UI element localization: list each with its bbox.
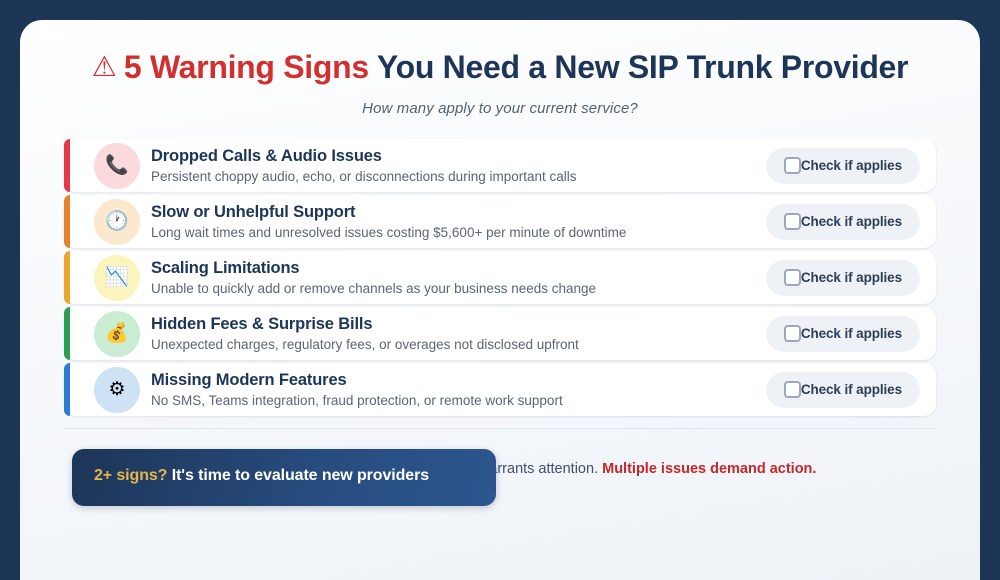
list-item[interactable]: ⚙ Missing Modern Features No SMS, Teams … [64, 363, 936, 416]
sign-title: Slow or Unhelpful Support [151, 203, 766, 222]
sign-text: Missing Modern Features No SMS, Teams in… [151, 370, 766, 411]
page-title: ⚠5 Warning Signs You Need a New SIP Trun… [76, 48, 924, 86]
page-title-accent: 5 Warning Signs [124, 49, 369, 85]
checkbox[interactable] [784, 381, 801, 398]
check-if-applies-toggle[interactable]: Check if applies [766, 372, 920, 408]
checkbox[interactable] [784, 213, 801, 230]
sign-description: Unable to quickly add or remove channels… [151, 280, 766, 298]
checkbox-label: Check if applies [801, 214, 902, 229]
page-subtitle: How many apply to your current service? [64, 100, 936, 117]
check-if-applies-toggle[interactable]: Check if applies [766, 260, 920, 296]
checkbox[interactable] [784, 157, 801, 174]
sign-text: Hidden Fees & Surprise Bills Unexpected … [151, 314, 766, 355]
money-bag-icon: 💰 [94, 311, 140, 357]
checkbox[interactable] [784, 325, 801, 342]
sign-description: Long wait times and unresolved issues co… [151, 224, 766, 242]
list-item[interactable]: 📞 Dropped Calls & Audio Issues Persisten… [64, 139, 936, 192]
gear-icon: ⚙ [94, 367, 140, 413]
checkbox-label: Check if applies [801, 382, 902, 397]
sign-title: Dropped Calls & Audio Issues [151, 147, 766, 166]
sign-text: Slow or Unhelpful Support Long wait time… [151, 202, 766, 243]
warning-triangle-icon: ⚠ [92, 51, 117, 82]
sign-title: Scaling Limitations [151, 259, 766, 278]
page-title-rest: You Need a New SIP Trunk Provider [377, 49, 908, 85]
sign-description: No SMS, Teams integration, fraud protect… [151, 392, 766, 410]
chart-decreasing-icon: 📉 [94, 255, 140, 301]
checkbox-label: Check if applies [801, 158, 902, 173]
list-item[interactable]: 💰 Hidden Fees & Surprise Bills Unexpecte… [64, 307, 936, 360]
checkbox[interactable] [784, 269, 801, 286]
check-if-applies-toggle[interactable]: Check if applies [766, 316, 920, 352]
cta-badge[interactable]: 2+ signs? It's time to evaluate new prov… [72, 449, 496, 505]
cta-badge-text: It's time to evaluate new providers [172, 467, 429, 484]
accent-bar [64, 139, 70, 192]
list-item[interactable]: 🕐 Slow or Unhelpful Support Long wait ti… [64, 195, 936, 248]
check-if-applies-toggle[interactable]: Check if applies [766, 148, 920, 184]
cta-badge-accent: 2+ signs? [94, 467, 167, 484]
accent-bar [64, 363, 70, 416]
footer-section: Any single issue warrants attention. Mul… [64, 449, 936, 529]
clock-icon: 🕐 [94, 199, 140, 245]
sign-description: Persistent choppy audio, echo, or discon… [151, 168, 766, 186]
phone-icon: 📞 [94, 143, 140, 189]
main-card: ⚠5 Warning Signs You Need a New SIP Trun… [20, 20, 980, 580]
sign-title: Missing Modern Features [151, 371, 766, 390]
footer-note-emphasis: Multiple issues demand action. [602, 461, 816, 477]
warning-signs-list: 📞 Dropped Calls & Audio Issues Persisten… [64, 139, 936, 416]
section-divider [64, 428, 936, 429]
sign-text: Dropped Calls & Audio Issues Persistent … [151, 146, 766, 187]
accent-bar [64, 195, 70, 248]
list-item[interactable]: 📉 Scaling Limitations Unable to quickly … [64, 251, 936, 304]
accent-bar [64, 251, 70, 304]
sign-description: Unexpected charges, regulatory fees, or … [151, 336, 766, 354]
checkbox-label: Check if applies [801, 326, 902, 341]
sign-title: Hidden Fees & Surprise Bills [151, 315, 766, 334]
accent-bar [64, 307, 70, 360]
checkbox-label: Check if applies [801, 270, 902, 285]
check-if-applies-toggle[interactable]: Check if applies [766, 204, 920, 240]
sign-text: Scaling Limitations Unable to quickly ad… [151, 258, 766, 299]
